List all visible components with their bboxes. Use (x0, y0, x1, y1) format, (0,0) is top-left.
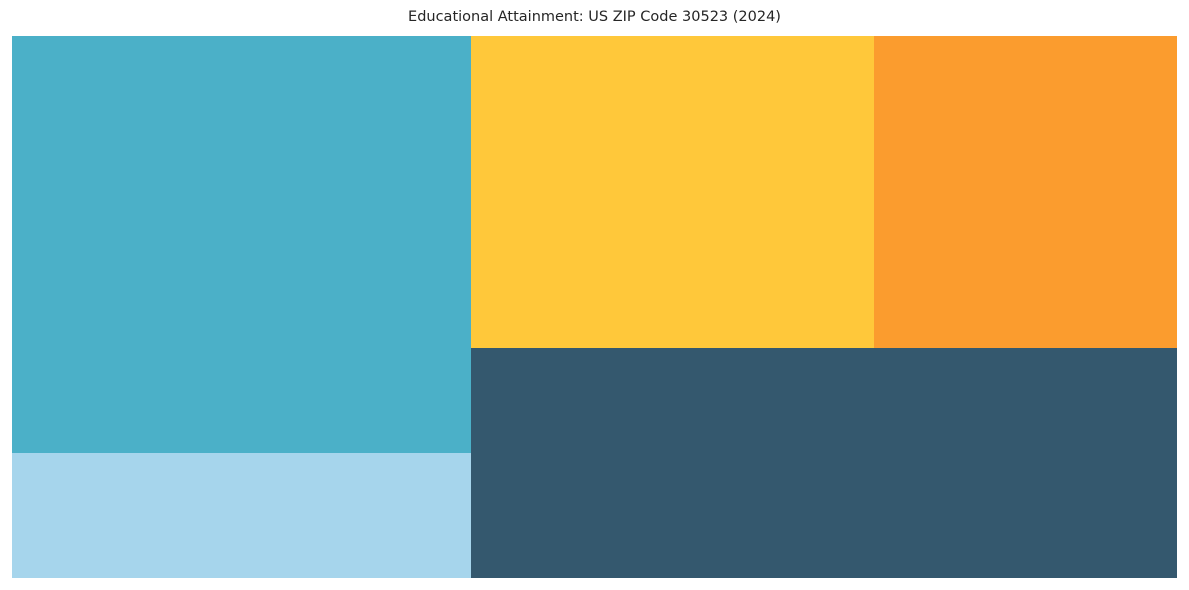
treemap-tile-less-than-high-school[interactable] (874, 36, 1177, 348)
treemap-tile-high-school-graduate[interactable] (12, 36, 471, 453)
treemap-figure: Educational Attainment: US ZIP Code 3052… (0, 0, 1189, 590)
treemap-tile-some-college-no-degree[interactable] (471, 348, 1177, 578)
treemap-tile-graduate-or-professional-degree[interactable] (12, 453, 471, 578)
treemap-plot-area (12, 36, 1177, 578)
chart-title: Educational Attainment: US ZIP Code 3052… (0, 8, 1189, 26)
treemap-tile-bachelors-degree[interactable] (471, 36, 874, 348)
